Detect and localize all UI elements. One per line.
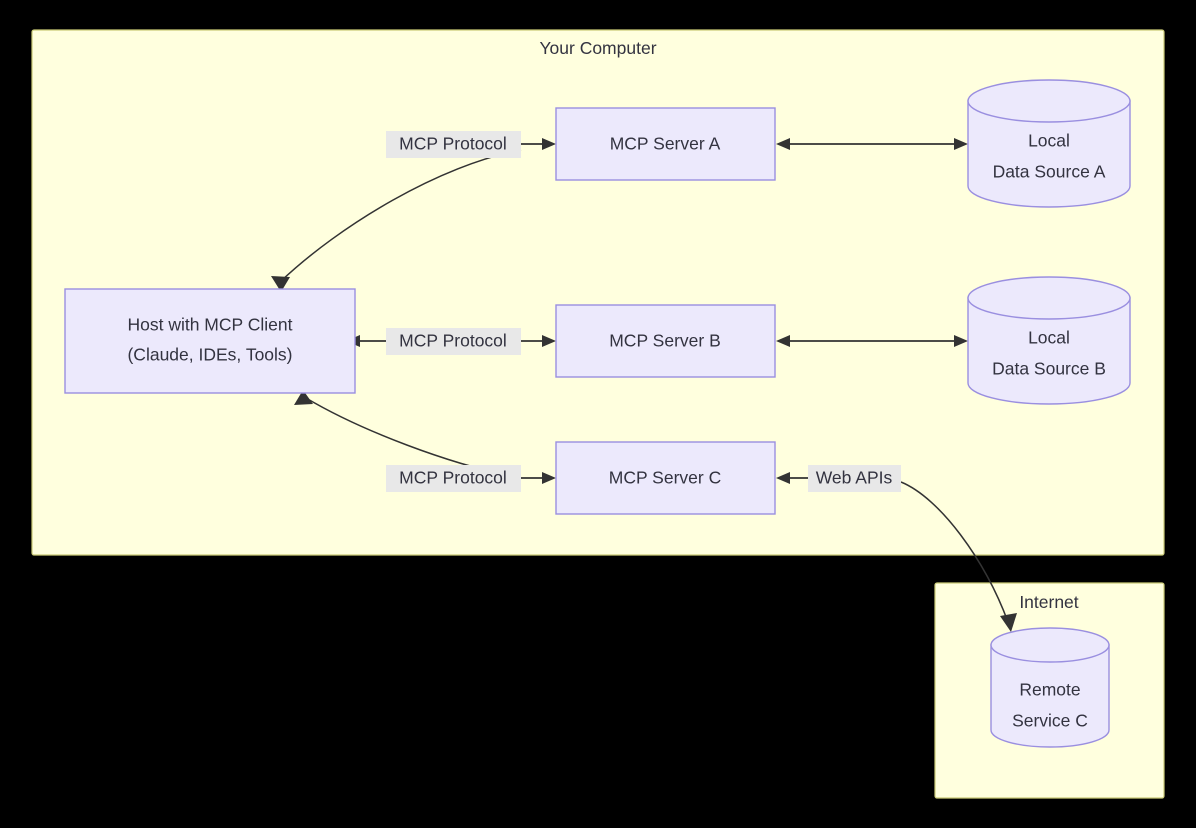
- node-remote-service-c-label-line2: Service C: [1012, 711, 1088, 731]
- node-data-source-b[interactable]: Local Data Source B: [968, 277, 1130, 404]
- edge-label-host-server-b: MCP Protocol: [386, 328, 521, 355]
- node-data-source-b-label-line2: Data Source B: [992, 359, 1106, 379]
- edge-label-host-server-c-text: MCP Protocol: [399, 468, 507, 488]
- cluster-internet-label: Internet: [1019, 592, 1078, 612]
- node-server-b[interactable]: MCP Server B: [556, 305, 775, 377]
- node-remote-service-c-label-line1: Remote: [1019, 680, 1080, 700]
- diagram-svg: Your Computer Internet: [0, 0, 1196, 828]
- node-remote-service-c[interactable]: Remote Service C: [991, 628, 1109, 747]
- edge-label-host-server-b-text: MCP Protocol: [399, 331, 507, 351]
- cluster-your-computer-label: Your Computer: [539, 38, 656, 58]
- node-server-a[interactable]: MCP Server A: [556, 108, 775, 180]
- node-data-source-b-label-line1: Local: [1028, 328, 1070, 348]
- edge-label-host-server-a-text: MCP Protocol: [399, 134, 507, 154]
- diagram-canvas: Your Computer Internet: [0, 0, 1196, 828]
- node-remote-service-c-top: [991, 628, 1109, 662]
- node-host-label-line2: (Claude, IDEs, Tools): [127, 345, 292, 365]
- node-server-b-label: MCP Server B: [609, 331, 721, 351]
- edge-label-server-c-remote-c: Web APIs: [808, 465, 901, 492]
- node-data-source-a-label-line1: Local: [1028, 131, 1070, 151]
- node-data-source-b-top: [968, 277, 1130, 319]
- node-host-label-line1: Host with MCP Client: [127, 315, 292, 335]
- node-host-rect[interactable]: [65, 289, 355, 393]
- node-server-c[interactable]: MCP Server C: [556, 442, 775, 514]
- node-data-source-a-top: [968, 80, 1130, 122]
- edge-label-server-c-remote-c-text: Web APIs: [816, 468, 893, 488]
- node-server-a-label: MCP Server A: [610, 134, 721, 154]
- edge-label-host-server-c: MCP Protocol: [386, 465, 521, 492]
- edge-label-host-server-a: MCP Protocol: [386, 131, 521, 158]
- node-server-c-label: MCP Server C: [609, 468, 721, 488]
- node-host[interactable]: Host with MCP Client (Claude, IDEs, Tool…: [65, 289, 355, 393]
- node-data-source-a[interactable]: Local Data Source A: [968, 80, 1130, 207]
- node-data-source-a-label-line2: Data Source A: [993, 162, 1106, 182]
